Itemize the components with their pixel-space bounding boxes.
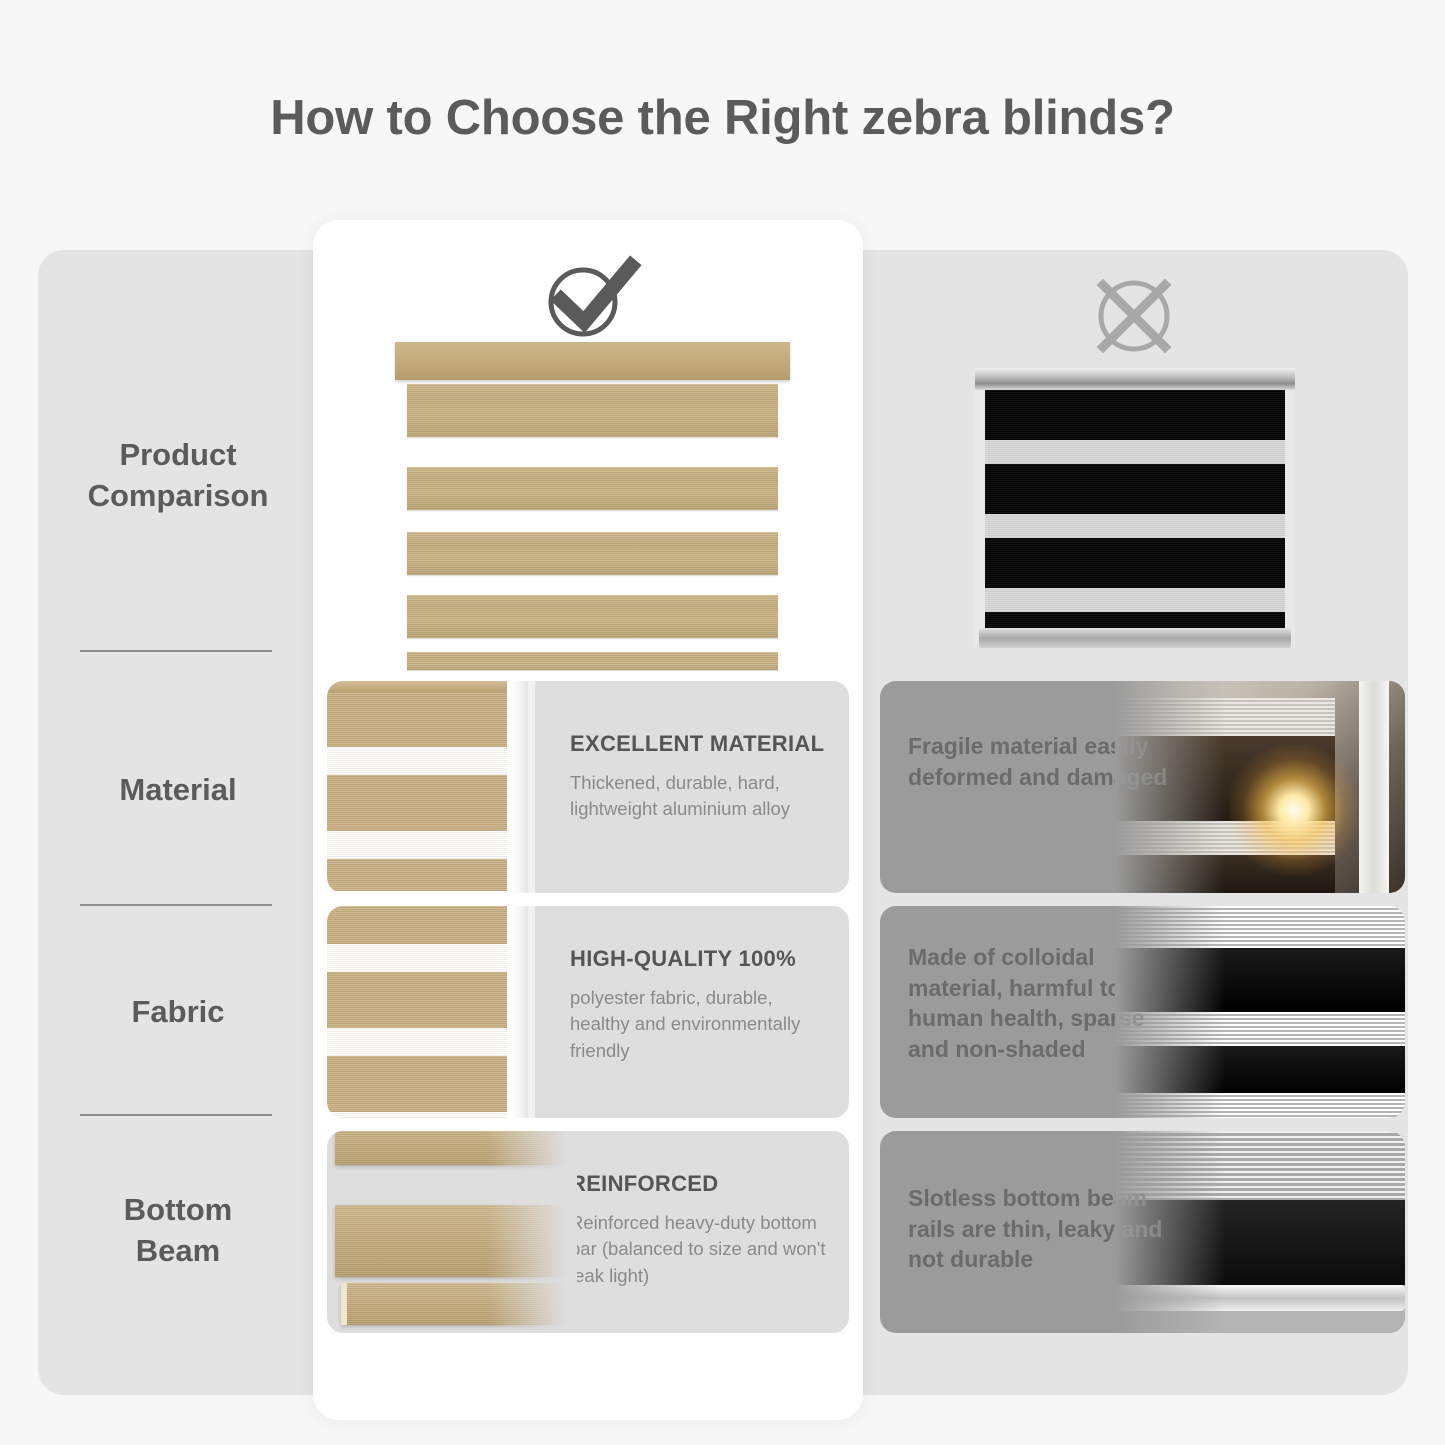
row-divider-1 [80,650,272,652]
row-label-product-comparison: Product Comparison [38,435,318,517]
feature-description: Reinforced heavy-duty bottom bar (balanc… [570,1210,832,1289]
photo-fade [1115,681,1225,893]
sun-flare-icon [1229,745,1359,875]
page-title: How to Choose the Right zebra blinds? [0,90,1445,146]
blind-bottom-bar [407,652,778,670]
blind-fabric [327,906,507,1118]
blind-fabric [985,390,1285,628]
row-divider-3 [80,1114,272,1116]
row-label-line1: Fabric [38,992,318,1033]
blind-slat [407,532,778,575]
blind-bottom-bar [979,628,1291,648]
beige-zebra-blind-image [395,342,790,667]
row-label-line2: Comparison [38,476,318,517]
feature-card-material-bad: Fragile material easily deformed and dam… [880,681,1405,893]
row-label-line1: Product [38,435,318,476]
row-label-fabric: Fabric [38,992,318,1033]
feature-title: REINFORCED [570,1171,832,1197]
row-divider-2 [80,904,272,906]
beige-bottom-beam-closeup [327,1131,577,1333]
blind-slat [407,384,778,437]
photo-fade [1115,906,1225,1118]
window-frame [327,906,535,1118]
blind-top-rail [327,681,507,693]
black-zebra-blind-image [975,368,1295,648]
feature-text-block: EXCELLENT MATERIAL Thickened, durable, h… [570,731,832,823]
row-label-column: Product Comparison Material Fabric Botto… [38,250,318,1395]
blind-headrail [975,368,1295,390]
row-label-line2: Beam [38,1231,318,1272]
blind-headrail [395,342,790,380]
row-label-material: Material [38,770,318,811]
feature-text-block: HIGH-QUALITY 100% polyester fabric, dura… [570,946,832,1064]
feature-title: EXCELLENT MATERIAL [570,731,832,757]
photo-fade [1115,1131,1225,1333]
thin-bottom-rail-photo [1115,1131,1405,1333]
blind-fabric [327,691,507,891]
feature-title: HIGH-QUALITY 100% [570,946,832,972]
feature-card-material-good: EXCELLENT MATERIAL Thickened, durable, h… [327,681,849,893]
feature-card-bottom-beam-good: REINFORCED Reinforced heavy-duty bottom … [327,1131,849,1333]
sun-glare-window-photo [1115,681,1405,893]
feature-description: polyester fabric, durable, healthy and e… [570,985,832,1064]
window-frame [327,681,535,893]
row-label-bottom-beam: Bottom Beam [38,1190,318,1272]
feature-description: Thickened, durable, hard, lightweight al… [570,770,832,823]
row-label-line1: Bottom [38,1190,318,1231]
check-circle-icon [535,252,645,344]
beige-blind-fabric-closeup [327,906,567,1118]
feature-text-block: REINFORCED Reinforced heavy-duty bottom … [570,1171,832,1289]
feature-card-fabric-good: HIGH-QUALITY 100% polyester fabric, dura… [327,906,849,1118]
feature-card-bottom-beam-bad: Slotless bottom beam rails are thin, lea… [880,1131,1405,1333]
beige-blind-window-closeup [327,681,567,893]
sheer-black-blind-photo [1115,906,1405,1118]
feature-card-fabric-bad: Made of colloidal material, harmful to h… [880,906,1405,1118]
photo-fade [487,1131,577,1333]
blind-slat [407,467,778,510]
row-label-line1: Material [38,770,318,811]
blind-slat [407,595,778,638]
window-frame [1359,681,1389,893]
not-recommended-column: Fragile material easily deformed and dam… [880,250,1405,1395]
